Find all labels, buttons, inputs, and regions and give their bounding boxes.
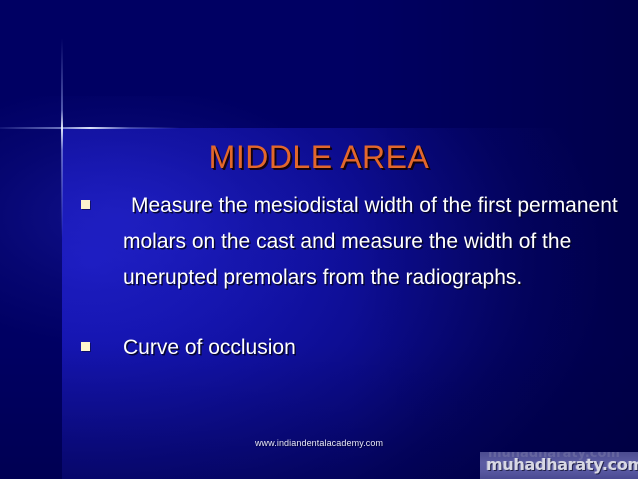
slide-body: Measure the mesiodistal width of the fir…: [0, 188, 638, 366]
square-bullet-icon: [81, 342, 90, 351]
presentation-slide: MIDDLE AREA Measure the mesiodistal widt…: [0, 0, 638, 479]
square-bullet-icon: [81, 200, 90, 209]
footer-credit-text: www.indiandentalacademy.com: [0, 437, 638, 449]
slide-title: MIDDLE AREA: [0, 140, 638, 174]
bullet-item: Measure the mesiodistal width of the fir…: [0, 188, 638, 296]
bullet-item-text-value: Measure the mesiodistal width of the fir…: [123, 194, 618, 289]
watermark-text: muhadharaty.com: [486, 455, 638, 475]
bullet-item-text: Measure the mesiodistal width of the fir…: [123, 194, 618, 289]
bullet-item: Curve of occlusion: [0, 330, 638, 366]
watermark-band: muhadharaty.com muhadharaty.com: [480, 452, 638, 479]
bullet-item-text: Curve of occlusion: [123, 336, 296, 359]
